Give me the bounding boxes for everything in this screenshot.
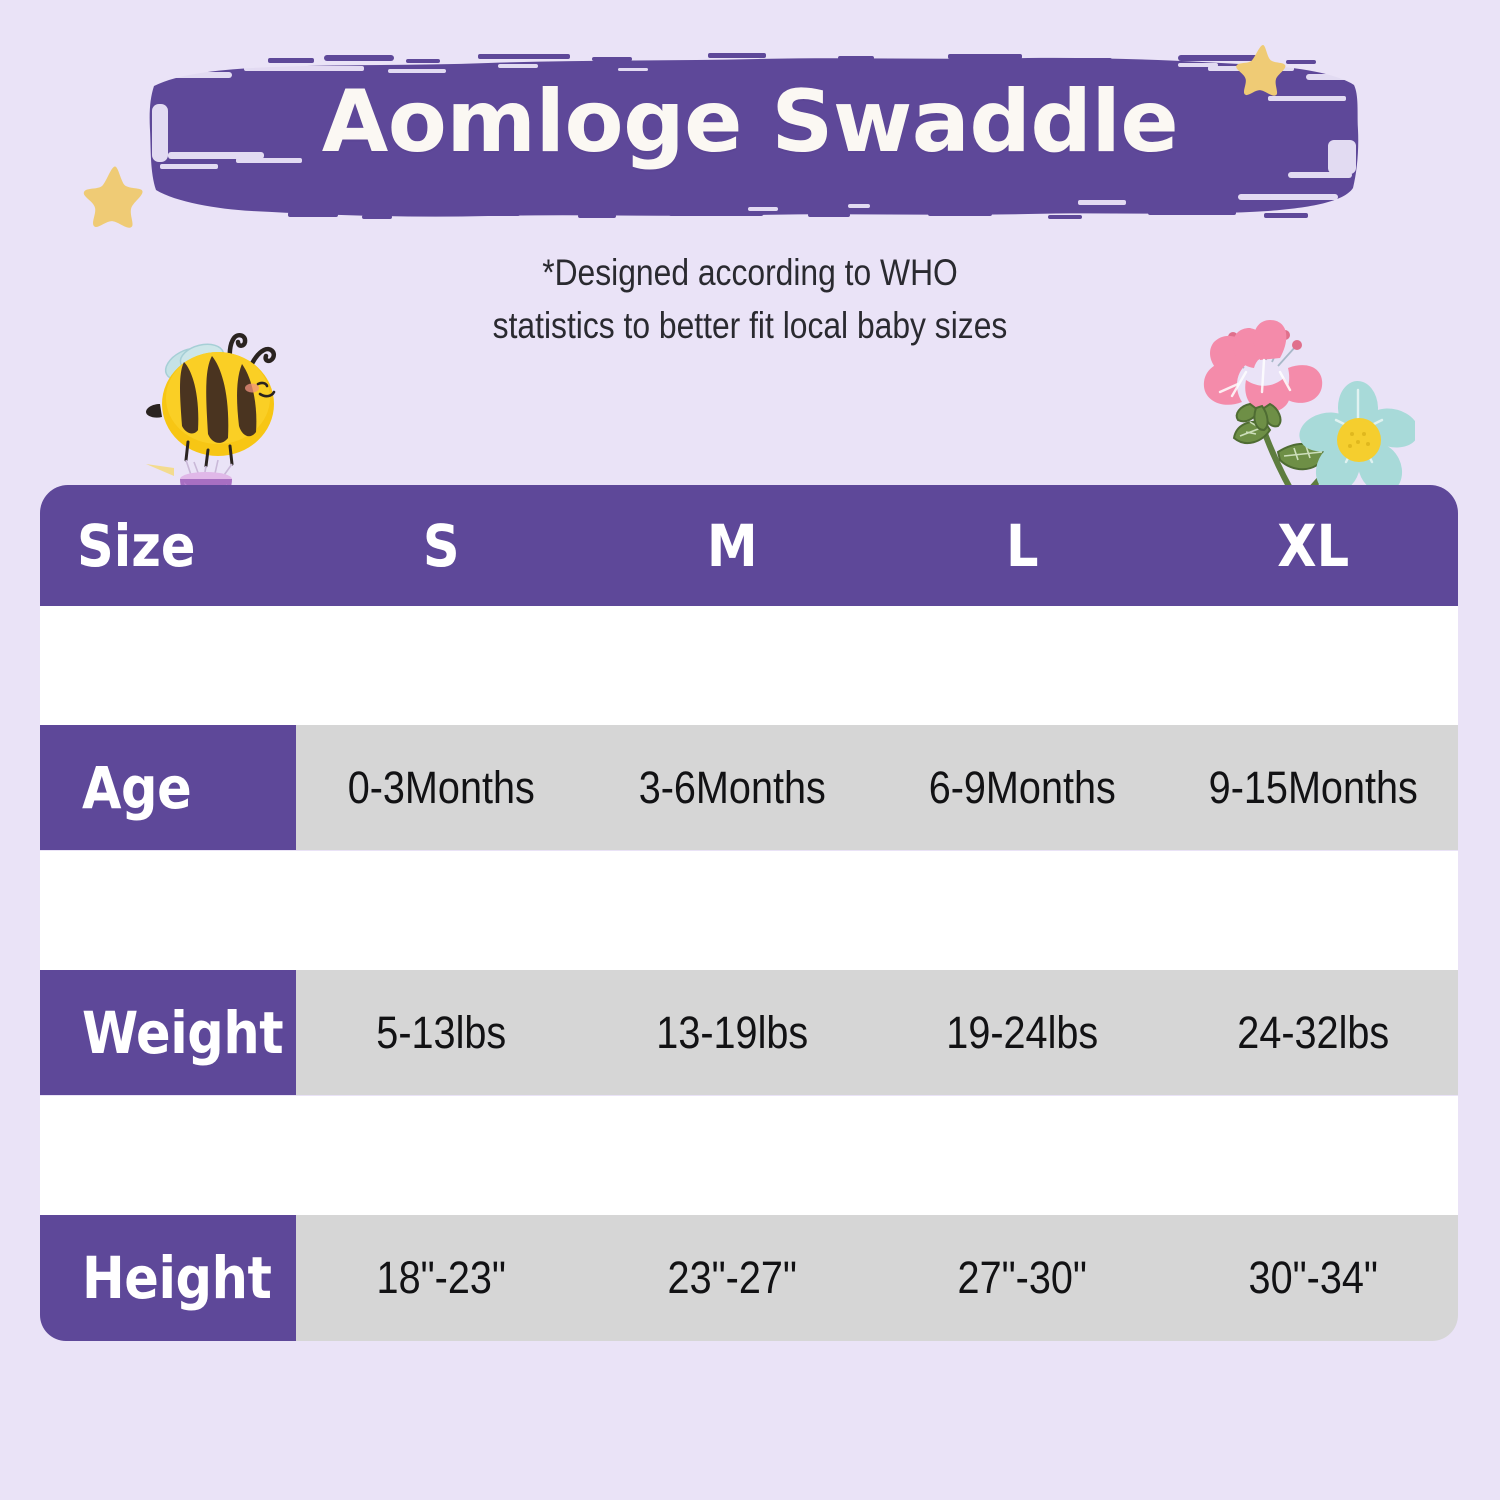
column-header-m: M bbox=[604, 512, 860, 580]
table-spacer-row bbox=[40, 851, 1458, 970]
size-chart-table: Size S M L XL Age 0-3Months 3-6Months 6-… bbox=[40, 485, 1458, 1341]
column-header-xl: XL bbox=[1185, 512, 1441, 580]
star-icon bbox=[1232, 40, 1294, 102]
cell-height-m: 23"-27" bbox=[604, 1252, 860, 1304]
cell-weight-s: 5-13lbs bbox=[313, 1007, 569, 1059]
cell-height-s: 18"-23" bbox=[313, 1252, 569, 1304]
cell-age-xl: 9-15Months bbox=[1185, 762, 1441, 814]
subtitle-line-1: *Designed according to WHO bbox=[105, 246, 1395, 299]
cell-age-m: 3-6Months bbox=[604, 762, 860, 814]
row-label-text: Height bbox=[82, 1244, 271, 1312]
cell-age-l: 6-9Months bbox=[894, 762, 1150, 814]
table-row: Weight 5-13lbs 13-19lbs 19-24lbs 24-32lb… bbox=[40, 970, 1458, 1095]
table-row: Height 18"-23" 23"-27" 27"-30" 30"-34" bbox=[40, 1215, 1458, 1341]
cell-age-s: 0-3Months bbox=[313, 762, 569, 814]
table-header-row: Size S M L XL bbox=[40, 485, 1458, 606]
column-header-s: S bbox=[313, 512, 569, 580]
cell-height-xl: 30"-34" bbox=[1185, 1252, 1441, 1304]
row-label-age: Age bbox=[40, 725, 296, 850]
star-icon bbox=[78, 162, 152, 236]
cell-height-l: 27"-30" bbox=[894, 1252, 1150, 1304]
table-spacer-row bbox=[40, 1096, 1458, 1215]
row-label-text: Weight bbox=[82, 999, 283, 1067]
row-values-age: 0-3Months 3-6Months 6-9Months 9-15Months bbox=[296, 725, 1458, 850]
row-label-weight: Weight bbox=[40, 970, 296, 1095]
table-spacer-row bbox=[40, 606, 1458, 725]
column-header-size: Size bbox=[40, 512, 265, 580]
column-header-l: L bbox=[894, 512, 1150, 580]
cell-weight-xl: 24-32lbs bbox=[1185, 1007, 1441, 1059]
row-label-text: Age bbox=[82, 754, 191, 822]
table-row: Age 0-3Months 3-6Months 6-9Months 9-15Mo… bbox=[40, 725, 1458, 850]
banner-area: Aomloge Swaddle bbox=[0, 0, 1500, 250]
row-values-weight: 5-13lbs 13-19lbs 19-24lbs 24-32lbs bbox=[296, 970, 1458, 1095]
row-label-height: Height bbox=[40, 1215, 296, 1341]
row-values-height: 18"-23" 23"-27" 27"-30" 30"-34" bbox=[296, 1215, 1458, 1341]
bee-illustration bbox=[130, 326, 300, 502]
cell-weight-l: 19-24lbs bbox=[894, 1007, 1150, 1059]
cell-weight-m: 13-19lbs bbox=[604, 1007, 860, 1059]
flowers-illustration bbox=[1180, 316, 1415, 506]
